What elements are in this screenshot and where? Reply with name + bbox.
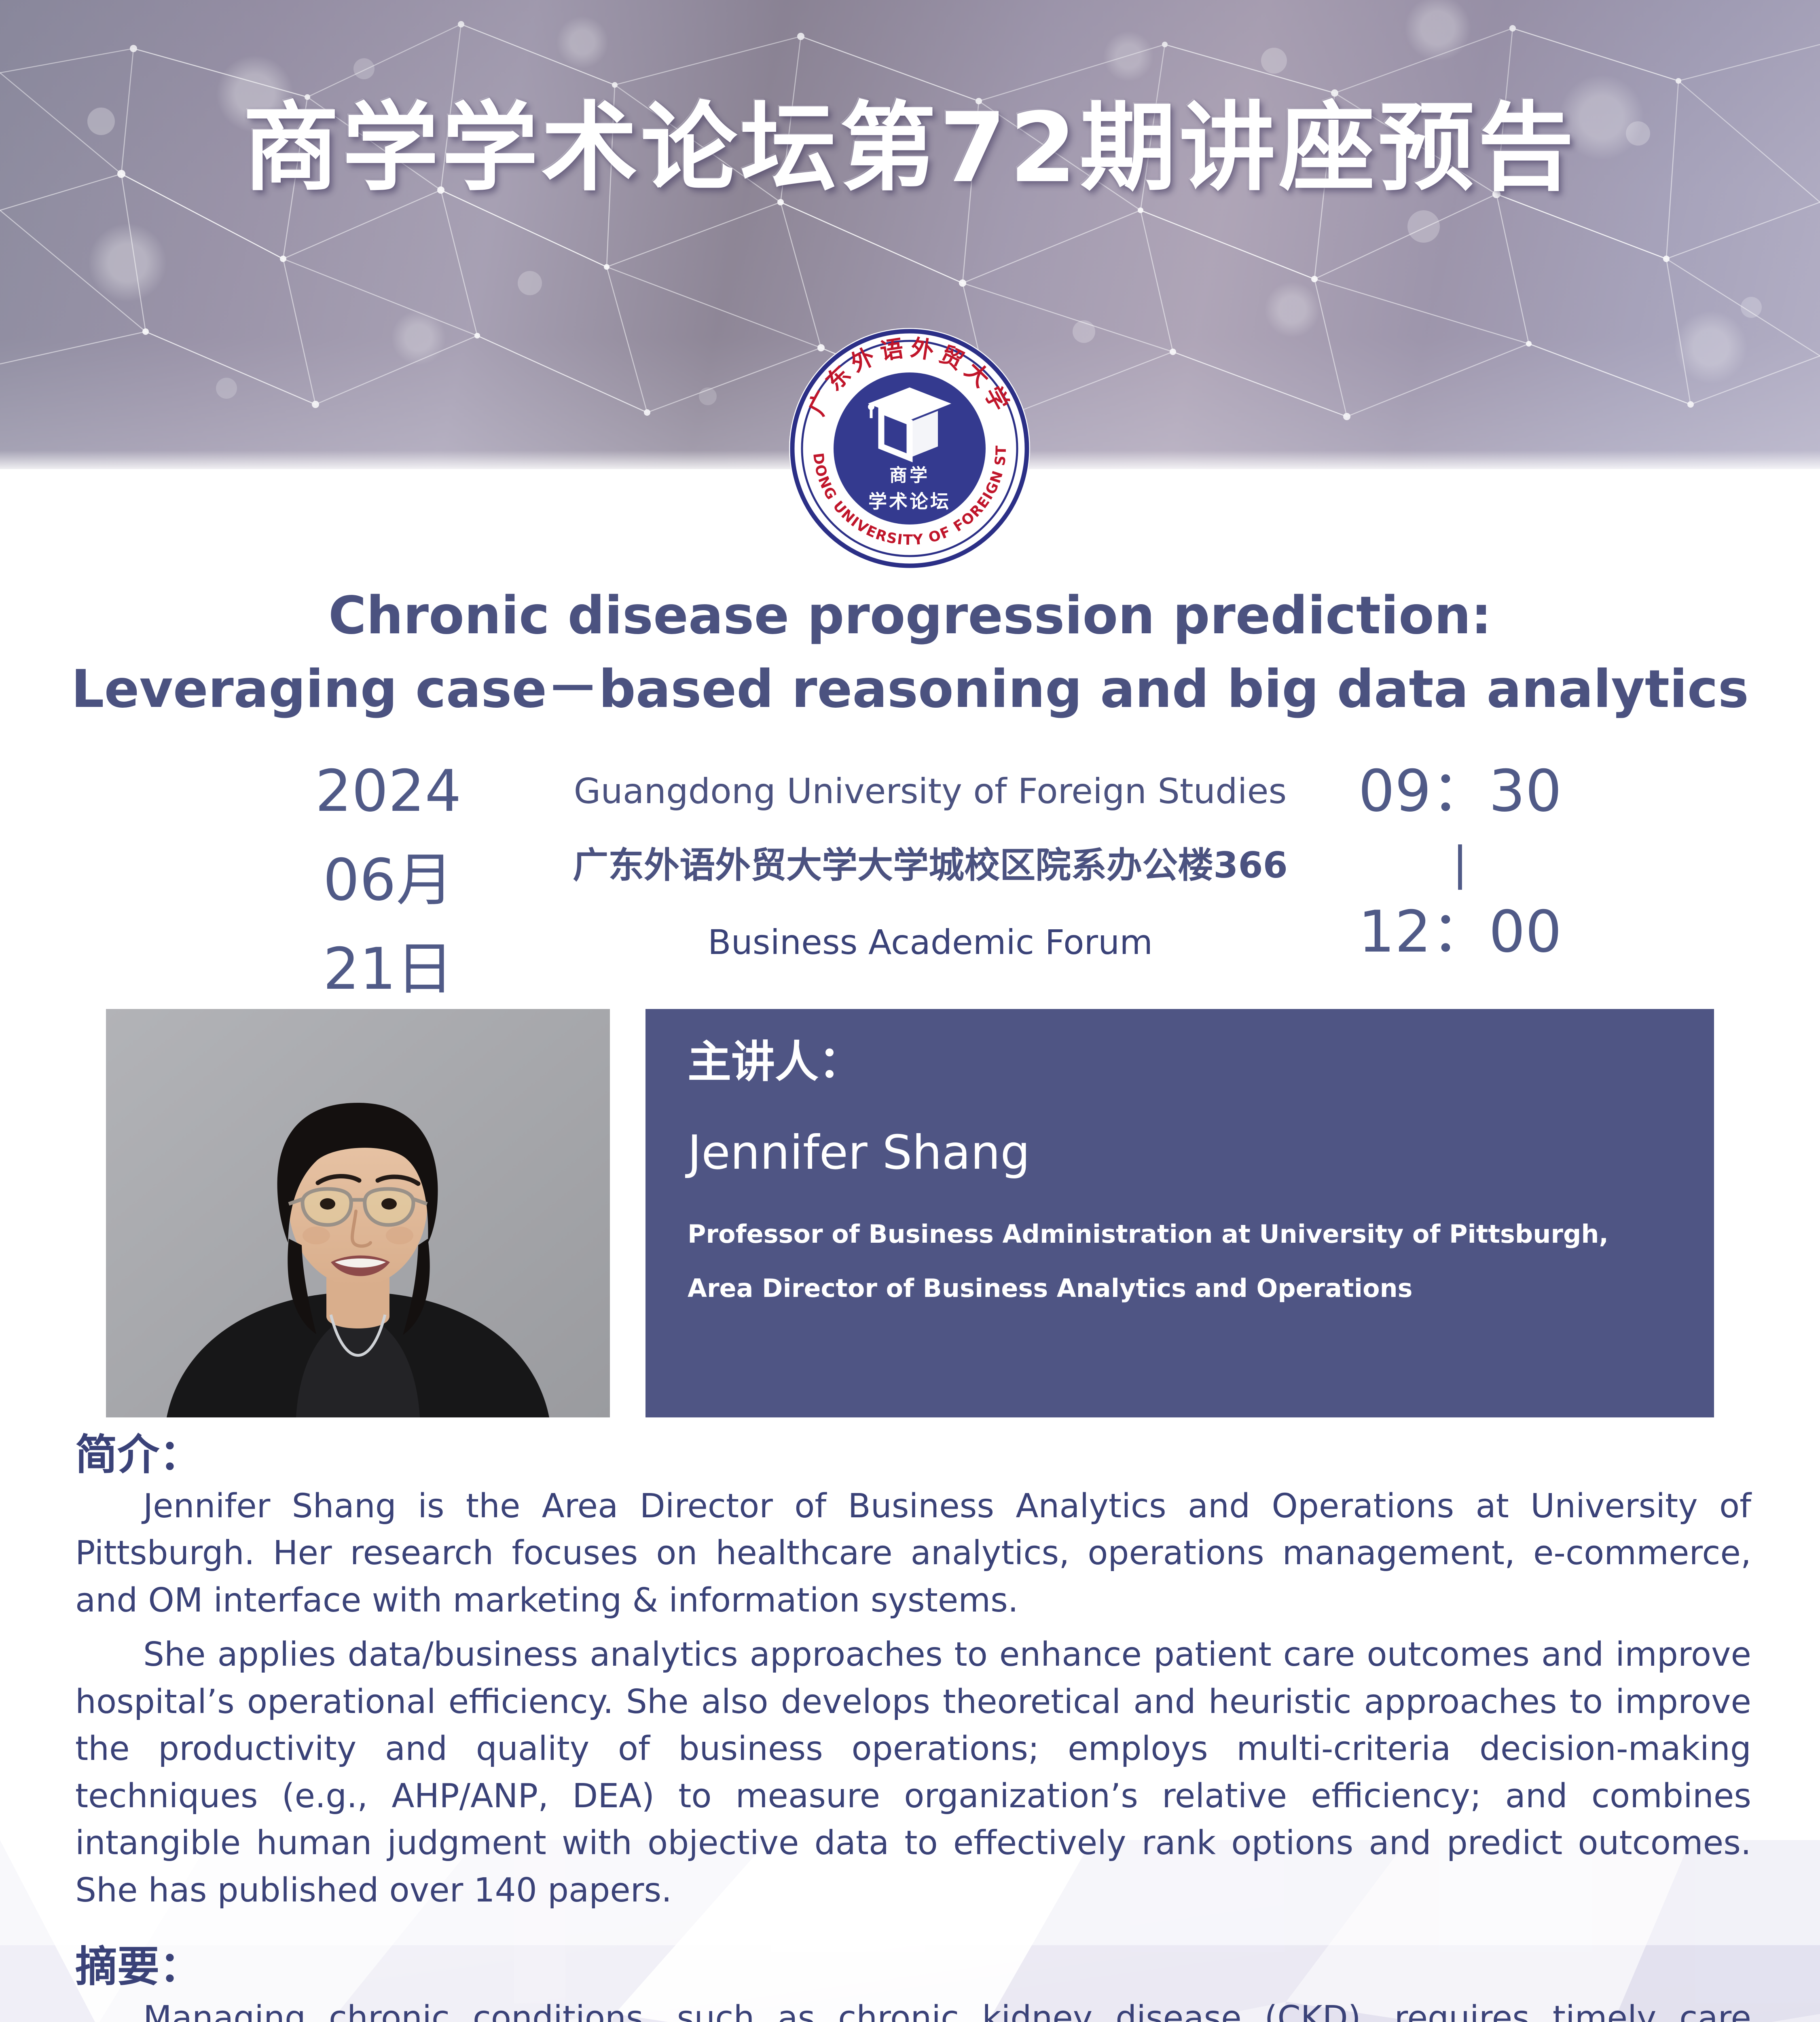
svg-text:商学: 商学 xyxy=(889,465,930,486)
banner-title: 商学学术论坛第72期讲座预告 xyxy=(0,100,1820,197)
university-seal-logo: 商学 学术论坛 广东外语外贸大学 GUANGDONG UNIVERSITY OF… xyxy=(788,327,1031,570)
lecture-title-line1: Chronic disease progression prediction: xyxy=(0,579,1820,653)
time-start: 09：30 xyxy=(1335,763,1585,820)
event-meta: 2024 06月 21日 Guangdong University of For… xyxy=(0,760,1820,987)
event-venue: Guangdong University of Foreign Studies … xyxy=(526,760,1335,959)
time-end: 12：00 xyxy=(1335,903,1585,961)
poster-body: 简介： Jennifer Shang is the Area Director … xyxy=(0,1434,1820,2022)
intro-paragraph-1: Jennifer Shang is the Area Director of B… xyxy=(75,1483,1751,1624)
poster-root: 商学学术论坛第72期讲座预告 商学 学术论坛 xyxy=(0,0,1820,2022)
date-month: 06月 xyxy=(251,852,526,909)
abstract-heading: 摘要： xyxy=(75,1946,1820,1988)
speaker-affiliation-line1: Professor of Business Administration at … xyxy=(688,1222,1714,1247)
speaker-label: 主讲人： xyxy=(688,1041,1714,1084)
venue-forum: Business Academic Forum xyxy=(526,925,1335,959)
lecture-title: Chronic disease progression prediction: … xyxy=(0,579,1820,726)
svg-text:学术论坛: 学术论坛 xyxy=(868,491,951,512)
event-time: 09：30 | 12：00 xyxy=(1335,760,1585,961)
abstract-paragraph-1: Managing chronic conditions, such as chr… xyxy=(75,1995,1751,2022)
speaker-info-panel: 主讲人： Jennifer Shang Professor of Busines… xyxy=(645,1009,1714,1417)
intro-paragraph-2: She applies data/business analytics appr… xyxy=(75,1631,1751,1914)
date-year: 2024 xyxy=(251,763,526,820)
speaker-block: 主讲人： Jennifer Shang Professor of Busines… xyxy=(106,1009,1714,1417)
speaker-portrait-photo xyxy=(106,1009,610,1417)
date-day: 21日 xyxy=(251,941,526,998)
speaker-affiliation-line2: Area Director of Business Analytics and … xyxy=(688,1276,1714,1301)
speaker-name: Jennifer Shang xyxy=(688,1129,1714,1176)
venue-chinese: 广东外语外贸大学大学城校区院系办公楼366 xyxy=(526,848,1335,883)
event-date: 2024 06月 21日 xyxy=(251,760,526,998)
time-separator: | xyxy=(1335,839,1585,887)
lecture-title-line2: Leveraging case－based reasoning and big … xyxy=(0,653,1820,726)
venue-english: Guangdong University of Foreign Studies xyxy=(526,774,1335,809)
intro-heading: 简介： xyxy=(75,1434,1820,1476)
